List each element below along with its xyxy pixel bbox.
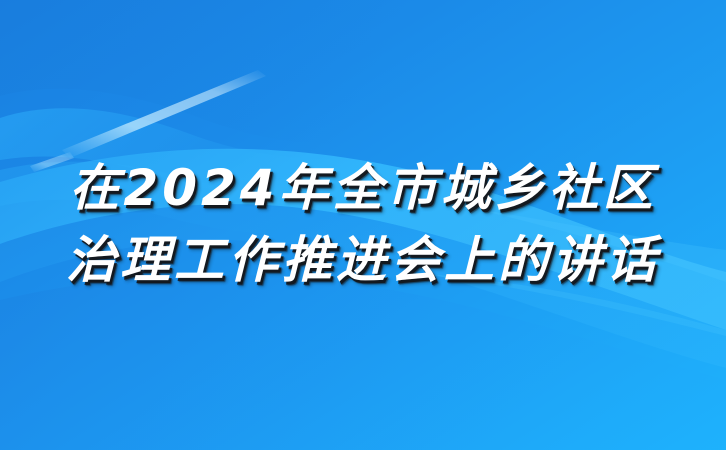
title-line-1: 在2024年全市城乡社区 <box>0 152 726 224</box>
title-line-2: 治理工作推进会上的讲话 <box>0 224 726 296</box>
banner-title: 在2024年全市城乡社区 治理工作推进会上的讲话 <box>0 152 726 296</box>
title-banner: 在2024年全市城乡社区 治理工作推进会上的讲话 <box>0 0 726 450</box>
